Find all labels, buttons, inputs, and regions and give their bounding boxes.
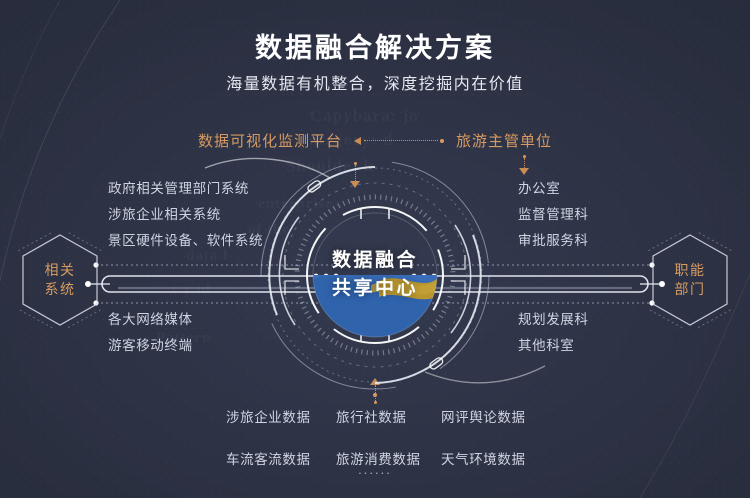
- list-item: 政府相关管理部门系统: [108, 176, 263, 202]
- hexagon-left-line2: 系统: [45, 280, 76, 299]
- list-item: 游客移动终端: [108, 333, 193, 359]
- list-item: 办公室: [518, 176, 589, 202]
- hexagon-related-systems[interactable]: 相关 系统: [18, 232, 102, 328]
- hexagon-functional-departments[interactable]: 职能 部门: [648, 232, 732, 328]
- infographic-canvas: Capybara: jo Category: d Shoulde: h ente…: [0, 0, 750, 498]
- right-top-department-list: 办公室 监督管理科 审批服务科: [518, 176, 589, 254]
- list-item: 监督管理科: [518, 202, 589, 228]
- grid-item: 涉旅企业数据: [226, 406, 336, 426]
- hexagon-right-line1: 职能: [675, 261, 706, 280]
- list-item: 规划发展科: [518, 307, 589, 333]
- page-title: 数据融合解决方案: [0, 26, 750, 65]
- data-fusion-hub[interactable]: 数据融合 共享中心: [255, 155, 495, 395]
- left-pointing-arrow-icon: [354, 137, 444, 145]
- watermark-text: Capybara: jo: [310, 106, 419, 126]
- label-visualization-platform: 数据可视化监测平台: [198, 130, 342, 151]
- bottom-ellipsis: ......: [0, 462, 750, 477]
- grid-item: 网评舆论数据: [441, 406, 541, 426]
- list-item: 景区硬件设备、软件系统: [108, 228, 263, 254]
- hexagon-left-label: 相关 系统: [18, 232, 102, 328]
- page-subtitle: 海量数据有机整合，深度挖掘内在价值: [0, 70, 750, 94]
- bottom-data-source-grid: 涉旅企业数据 旅行社数据 网评舆论数据 车流客流数据 旅游消费数据 天气环境数据: [226, 406, 541, 468]
- watermark-text: x y id: [170, 282, 211, 299]
- top-label-row: 数据可视化监测平台 旅游主管单位: [0, 130, 750, 151]
- left-top-system-list: 政府相关管理部门系统 涉旅企业相关系统 景区硬件设备、软件系统: [108, 176, 263, 254]
- hexagon-right-line2: 部门: [675, 280, 706, 299]
- right-bottom-department-list: 规划发展科 其他科室: [518, 307, 589, 359]
- hexagon-left-line1: 相关: [45, 261, 76, 280]
- label-tourism-authority: 旅游主管单位: [456, 130, 552, 151]
- hexagon-right-label: 职能 部门: [648, 232, 732, 328]
- marker-right-column: [519, 155, 529, 175]
- list-item: 各大网络媒体: [108, 307, 193, 333]
- list-item: 其他科室: [518, 333, 589, 359]
- list-item: 审批服务科: [518, 228, 589, 254]
- grid-item: 旅行社数据: [336, 406, 441, 426]
- list-item: 涉旅企业相关系统: [108, 202, 263, 228]
- left-bottom-system-list: 各大网络媒体 游客移动终端: [108, 307, 193, 359]
